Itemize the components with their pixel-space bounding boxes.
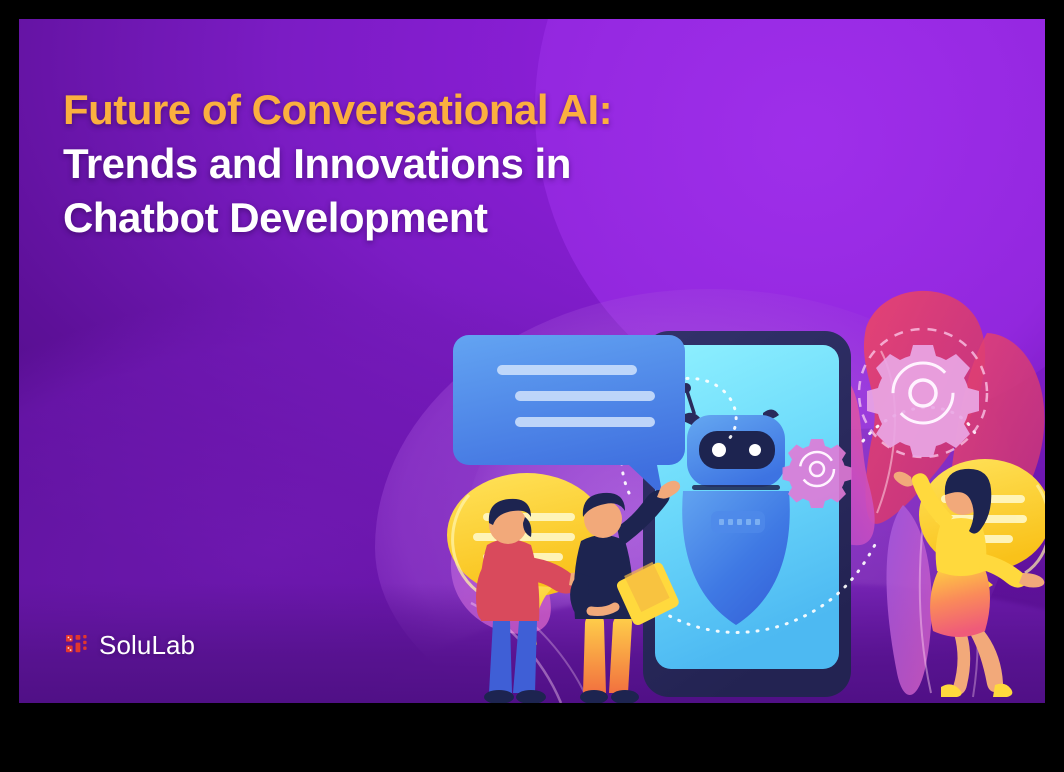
brand-logo[interactable]: SoluLab (65, 630, 195, 661)
headline-line-2: Trends and Innovations in (63, 137, 823, 191)
headline-line-3: Chatbot Development (63, 191, 823, 245)
robot-visor (699, 431, 775, 469)
page-title: Future of Conversational AI: Trends and … (63, 83, 823, 244)
hero-banner: Future of Conversational AI: Trends and … (19, 19, 1045, 703)
solulab-squares-icon (65, 634, 88, 657)
headline-line-1: Future of Conversational AI: (63, 83, 823, 137)
chatbot-conversation-illustration (411, 273, 1045, 703)
blue-chat-bubble (453, 335, 685, 497)
robot-eye-right (749, 444, 761, 456)
robot-eye-left (712, 443, 726, 457)
brand-wordmark: SoluLab (99, 630, 195, 661)
image-frame: Future of Conversational AI: Trends and … (0, 0, 1064, 772)
gear-small-icon (783, 439, 852, 508)
